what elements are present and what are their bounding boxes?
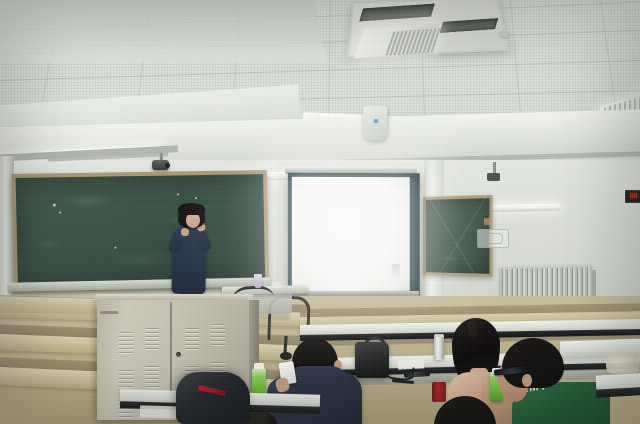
wall-camera-icon	[487, 173, 500, 181]
ceiling-sensor	[500, 30, 509, 37]
main-chalkboard	[11, 170, 269, 293]
light-diffuser-grid	[385, 28, 440, 55]
camera-lens-icon	[165, 163, 170, 168]
thermos-tumbler[interactable]	[434, 336, 444, 360]
led-display: 88	[625, 190, 640, 203]
cabinet-handle[interactable]	[100, 311, 118, 314]
presenter-face	[186, 213, 200, 228]
wall-projector-housing	[363, 106, 388, 140]
chalk-residue	[16, 174, 266, 289]
bottle-cap	[254, 363, 264, 369]
wall-plaque-inner-frame	[484, 233, 503, 244]
shoulder-bag[interactable]	[355, 342, 389, 378]
status-led-icon	[374, 119, 378, 123]
wall-sticker	[484, 218, 491, 225]
items-on-far-desk	[606, 354, 640, 374]
student-green-shirt-ear	[522, 374, 532, 387]
backpack[interactable]	[176, 372, 250, 424]
classroom-photo: 88	[0, 0, 640, 424]
presenter-hand-right	[181, 228, 189, 236]
cabinet-lock-icon[interactable]	[176, 352, 181, 357]
hair-highlight	[468, 318, 477, 338]
projection-screen	[288, 173, 420, 301]
radiator-pipe	[592, 270, 596, 298]
screen-reflection	[392, 264, 400, 277]
thermos-lid	[434, 334, 444, 337]
red-beverage-can[interactable]	[432, 382, 446, 402]
chair-wheel	[280, 352, 292, 360]
cup-on-podium[interactable]	[254, 274, 262, 288]
presenter-hair-front	[178, 203, 205, 215]
ceiling-recess	[0, 0, 326, 63]
led-display-text: 88	[627, 192, 640, 201]
object-on-podium[interactable]	[272, 282, 281, 288]
